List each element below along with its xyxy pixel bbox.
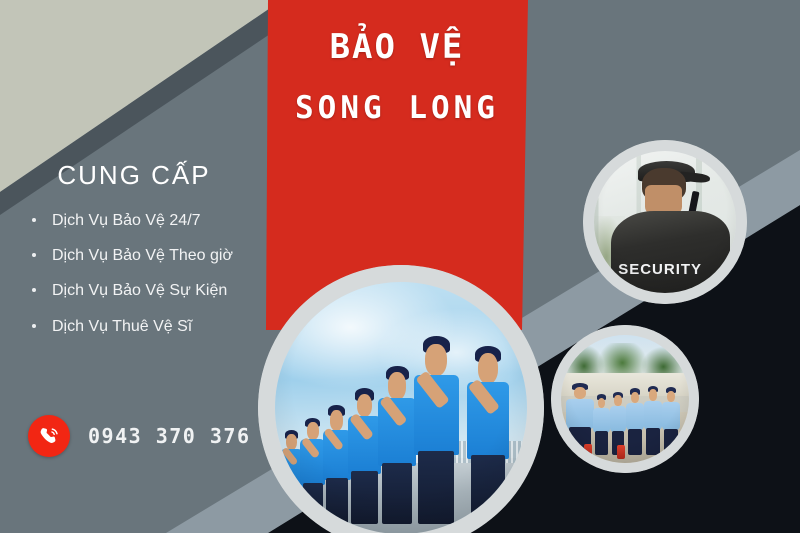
torso: [626, 403, 644, 431]
torso: [644, 401, 662, 430]
contact-phone-row[interactable]: 0943 370 376: [28, 415, 251, 457]
head: [598, 398, 605, 408]
list-item: Dịch Vụ Bảo Vệ Theo giờ: [30, 244, 262, 267]
photo-inner: [594, 151, 736, 293]
saluting-guards-photo: [258, 265, 544, 533]
phone-number[interactable]: 0943 370 376: [88, 424, 251, 448]
legs: [326, 478, 348, 524]
brand-line-1: BẢO VỆ: [266, 30, 528, 66]
scene-trees: [561, 343, 689, 376]
torso: [566, 399, 594, 429]
list-item: Dịch Vụ Thuê Vệ Sĩ: [30, 315, 262, 338]
torso: [662, 402, 680, 430]
guard-figure: [467, 342, 510, 523]
legs: [351, 471, 377, 524]
legs: [282, 488, 300, 524]
head: [388, 372, 406, 399]
guard-figure: [348, 385, 381, 524]
legs: [382, 463, 412, 524]
head: [330, 410, 343, 431]
guard-figure: [626, 386, 644, 455]
guard-figure: [300, 416, 325, 524]
services-list: Dịch Vụ Bảo Vệ 24/7 Dịch Vụ Bảo Vệ Theo …: [0, 209, 262, 338]
head: [614, 395, 621, 405]
phone-icon-glyph: [38, 425, 61, 448]
head: [574, 387, 586, 399]
guard-figure: [644, 384, 662, 456]
squad-scene: [561, 335, 689, 463]
guard-figure: [414, 332, 459, 524]
guard-figure: [323, 403, 351, 524]
legs: [303, 483, 323, 524]
head: [649, 389, 657, 400]
fire-extinguisher: [584, 444, 592, 459]
head: [478, 353, 499, 384]
head: [631, 392, 639, 403]
security-company-poster: BẢO VỆ SONG LONG CUNG CẤP Dịch Vụ Bảo Vệ…: [0, 0, 800, 533]
guard-figure: [593, 393, 610, 456]
legs: [646, 428, 660, 455]
guard-figure: [378, 363, 416, 524]
head: [307, 422, 319, 440]
services-block: CUNG CẤP Dịch Vụ Bảo Vệ 24/7 Dịch Vụ Bảo…: [0, 160, 262, 350]
brand-title: BẢO VỆ SONG LONG: [266, 30, 528, 124]
security-jacket: [611, 211, 730, 293]
fire-extinguisher: [617, 445, 625, 459]
head: [425, 344, 447, 377]
phone-icon[interactable]: [28, 415, 70, 457]
legs: [664, 429, 678, 456]
torso: [610, 406, 627, 432]
brand-line-2: SONG LONG: [266, 92, 528, 125]
guard-squad-photo: [551, 325, 699, 473]
services-heading: CUNG CẤP: [0, 160, 262, 191]
legs: [595, 431, 608, 455]
security-guard-back-photo: [583, 140, 747, 304]
legs: [471, 455, 505, 524]
guard-figure: [662, 385, 680, 455]
photo-inner: [561, 335, 689, 463]
torso: [593, 408, 610, 433]
saluting-scene: [275, 282, 527, 533]
legs: [628, 429, 642, 455]
legs: [418, 451, 454, 524]
list-item: Dịch Vụ Bảo Vệ Sự Kiện: [30, 279, 262, 302]
head: [667, 391, 675, 402]
list-item: Dịch Vụ Bảo Vệ 24/7: [30, 209, 262, 232]
guard-back-scene: [594, 151, 736, 293]
photo-inner: [275, 282, 527, 533]
head: [357, 394, 373, 418]
